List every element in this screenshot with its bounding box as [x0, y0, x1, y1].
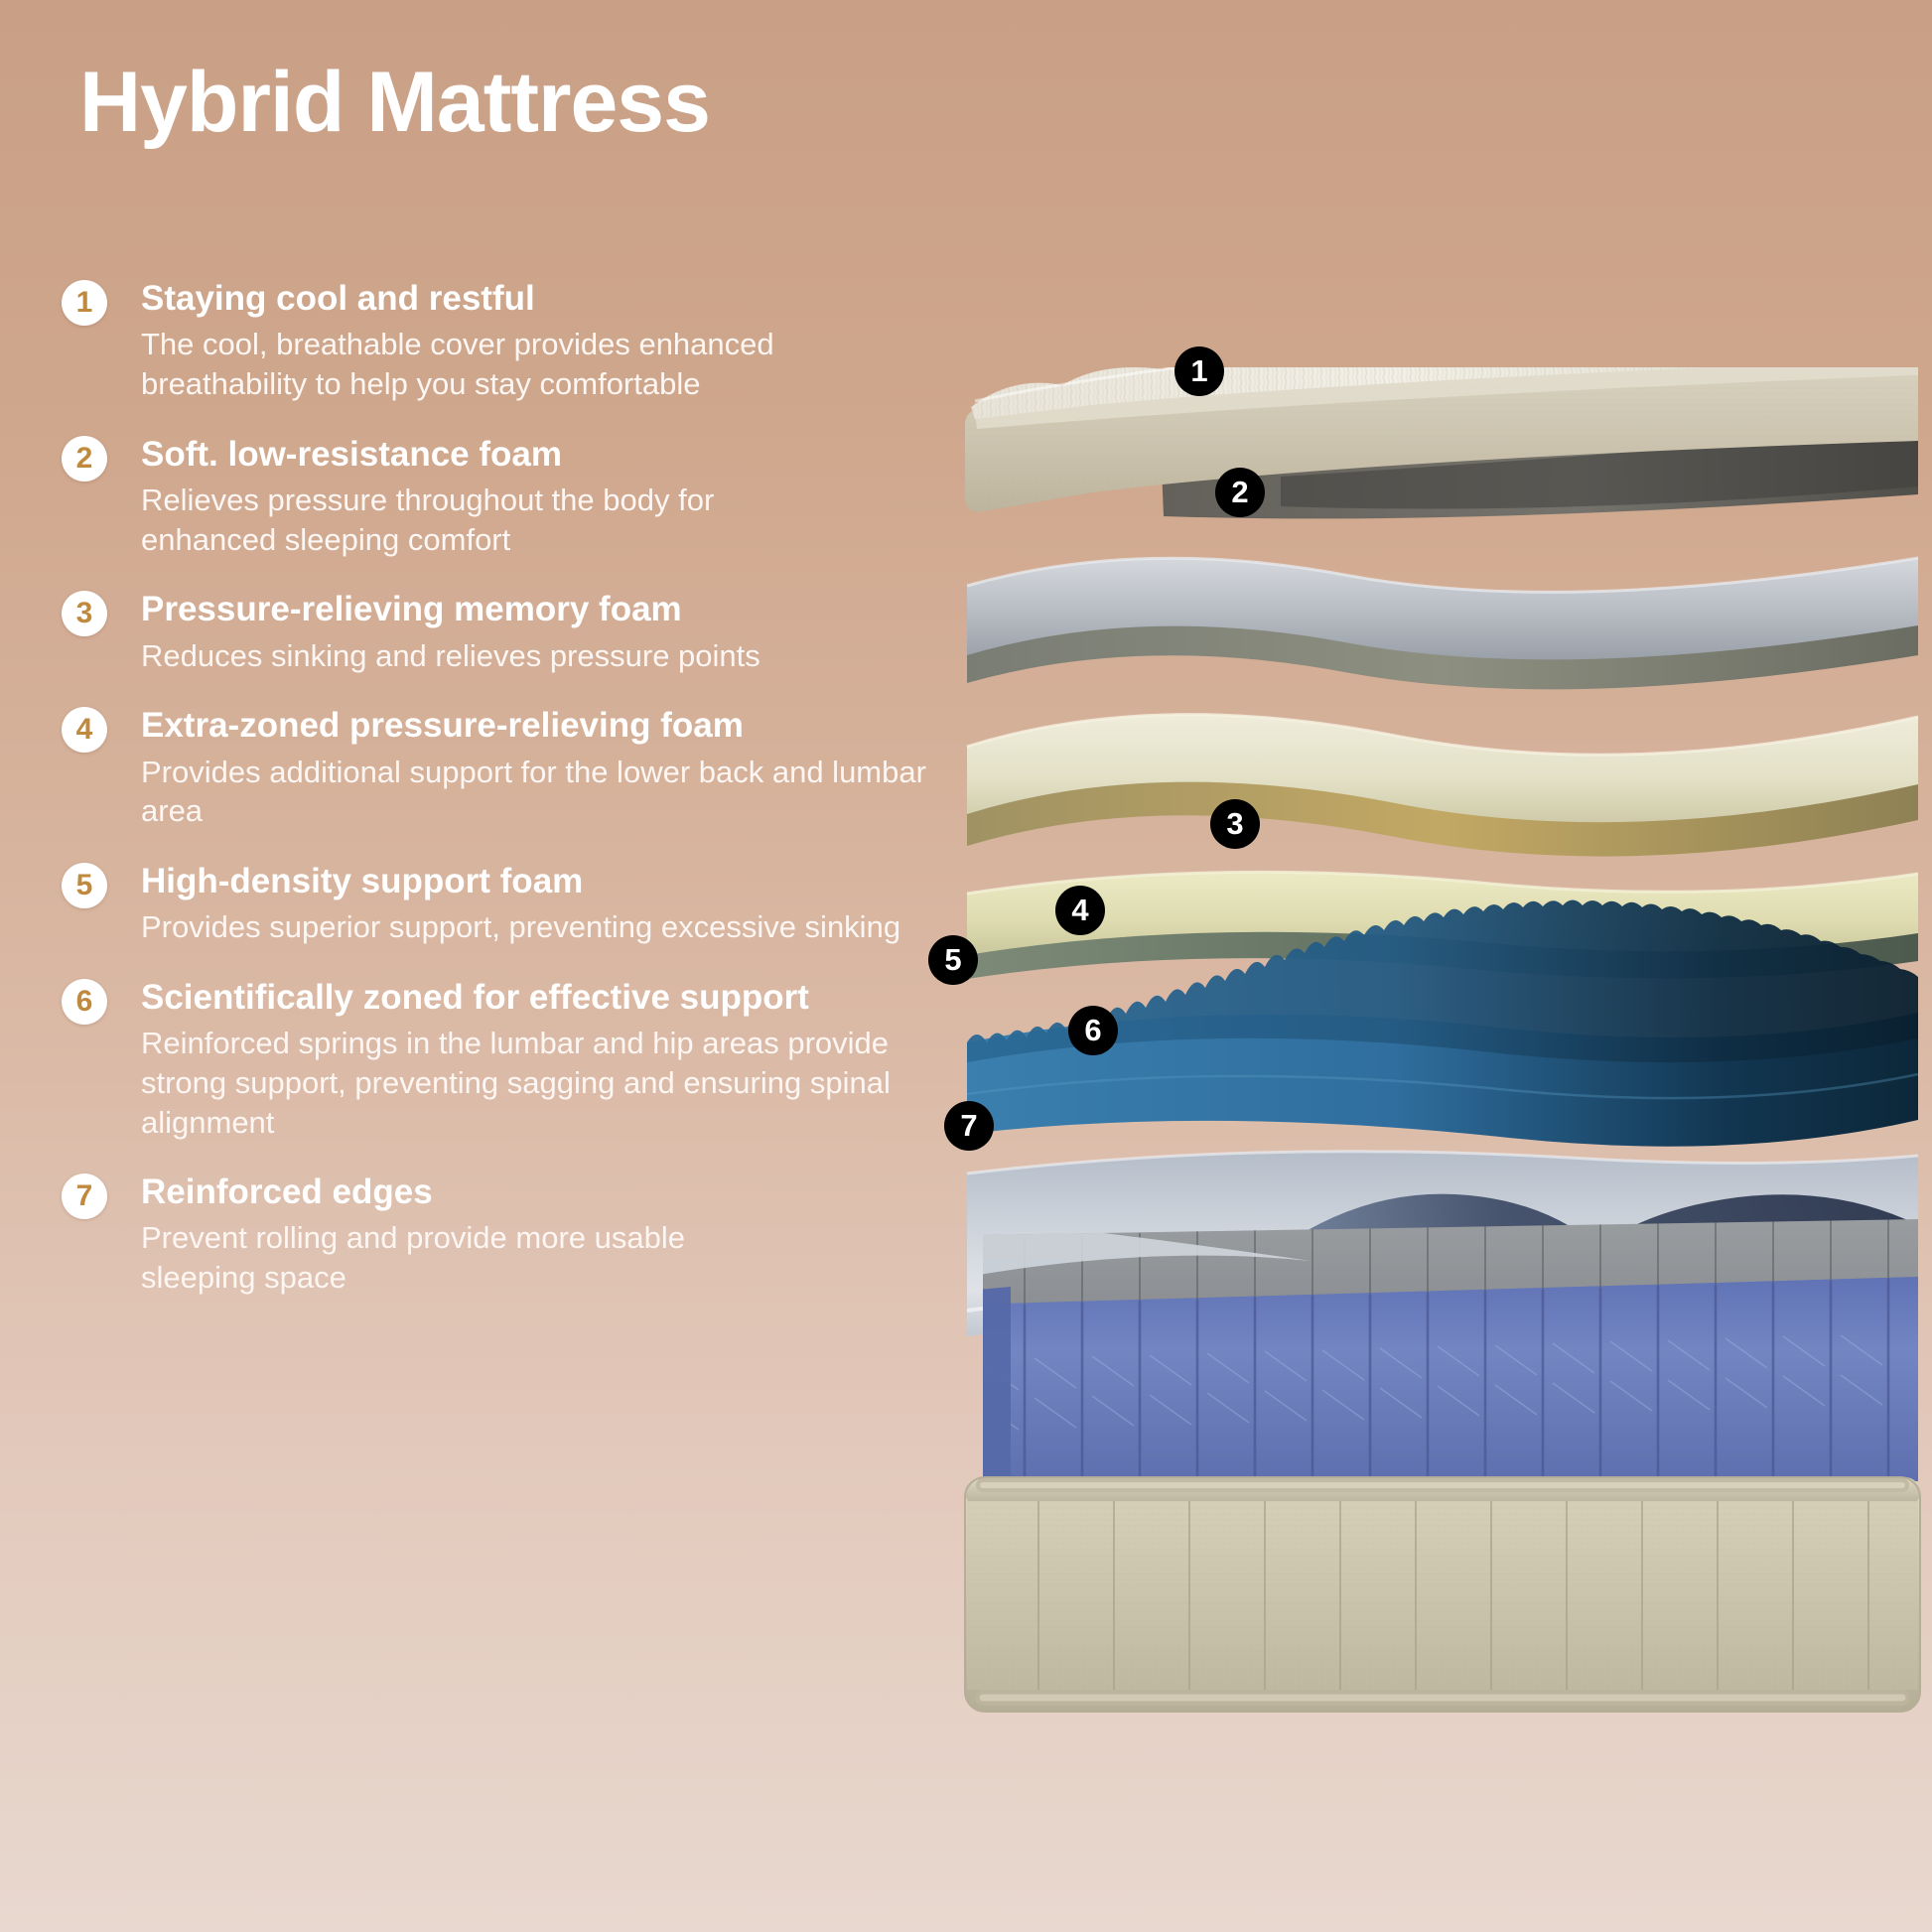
feature-badge-1: 1 [62, 280, 107, 326]
feature-item-5: 5 High-density support foam Provides sup… [62, 861, 1054, 947]
feature-desc-5: Provides superior support, preventing ex… [141, 907, 955, 947]
feature-desc-3: Reduces sinking and relieves pressure po… [141, 636, 995, 676]
feature-item-4: 4 Extra-zoned pressure-relieving foam Pr… [62, 705, 1054, 831]
feature-desc-1: The cool, breathable cover provides enha… [141, 325, 935, 403]
feature-title-2: Soft. low-resistance foam [141, 434, 1054, 475]
feature-item-2: 2 Soft. low-resistance foam Relieves pre… [62, 434, 1054, 560]
feature-item-1: 1 Staying cool and restful The cool, bre… [62, 278, 1054, 404]
diagram-marker-6: 6 [1068, 1006, 1118, 1055]
diagram-marker-1: 1 [1174, 346, 1224, 396]
feature-desc-6: Reinforced springs in the lumbar and hip… [141, 1024, 945, 1142]
layer-pocket-spring-unit [967, 1210, 1920, 1485]
feature-desc-2: Relieves pressure throughout the body fo… [141, 481, 776, 559]
feature-badge-2: 2 [62, 436, 107, 482]
feature-badge-5: 5 [62, 863, 107, 908]
feature-badge-3: 3 [62, 591, 107, 636]
feature-item-7: 7 Reinforced edges Prevent rolling and p… [62, 1172, 1054, 1298]
layer-memory-foam-cream [967, 715, 1918, 857]
feature-title-3: Pressure-relieving memory foam [141, 589, 1054, 629]
mattress-cutaway-illustration [953, 367, 1932, 1777]
feature-item-3: 3 Pressure-relieving memory foam Reduces… [62, 589, 1054, 675]
feature-badge-4: 4 [62, 707, 107, 753]
feature-title-7: Reinforced edges [141, 1172, 1054, 1212]
diagram-marker-4: 4 [1055, 886, 1105, 935]
feature-title-4: Extra-zoned pressure-relieving foam [141, 705, 1054, 746]
infographic-poster: Hybrid Mattress 1 Staying cool and restf… [0, 0, 1932, 1932]
feature-desc-4: Provides additional support for the lowe… [141, 753, 935, 831]
feature-list: 1 Staying cool and restful The cool, bre… [62, 278, 1054, 1323]
page-title: Hybrid Mattress [79, 58, 710, 147]
diagram-marker-7: 7 [944, 1101, 994, 1151]
layer-soft-low-resistance-foam [967, 558, 1918, 689]
feature-title-5: High-density support foam [141, 861, 1054, 901]
feature-desc-7: Prevent rolling and provide more usable … [141, 1218, 737, 1297]
feature-badge-7: 7 [62, 1173, 107, 1219]
feature-item-6: 6 Scientifically zoned for effective sup… [62, 977, 1054, 1142]
feature-title-1: Staying cool and restful [141, 278, 1054, 319]
feature-title-6: Scientifically zoned for effective suppo… [141, 977, 1054, 1018]
diagram-marker-3: 3 [1210, 799, 1260, 849]
layer-quilted-cover [965, 367, 1918, 518]
diagram-marker-5: 5 [928, 935, 978, 985]
feature-badge-6: 6 [62, 979, 107, 1025]
layer-base-fabric [965, 1477, 1920, 1712]
diagram-marker-2: 2 [1215, 468, 1265, 517]
